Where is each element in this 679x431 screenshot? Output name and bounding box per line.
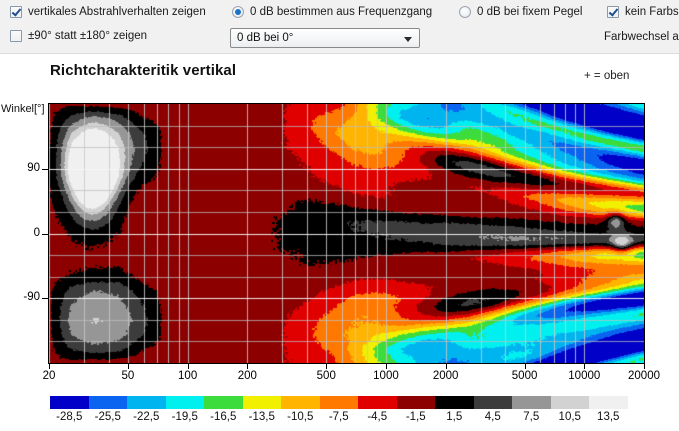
checkbox-no-color-jump-box[interactable]: [607, 6, 619, 18]
reference-select[interactable]: 0 dB bei 0°: [230, 28, 420, 48]
radio-zero-db-fixed-level-label: 0 dB bei fixem Pegel: [477, 6, 582, 18]
y-tick-label: 90: [0, 162, 40, 174]
colorbar-tick-label: -10,5: [287, 411, 313, 423]
y-tick-label: 0: [0, 227, 40, 239]
colorbar-swatch: [435, 396, 474, 409]
radio-zero-db-from-response-dot[interactable]: [232, 6, 244, 18]
colorbar-swatch: [50, 396, 89, 409]
colorbar-swatch: [243, 396, 282, 409]
x-tick-label: 100: [178, 370, 197, 382]
colorbar-swatch: [474, 396, 513, 409]
colorbar-swatch: [204, 396, 243, 409]
page-title: Richtcharakteritik vertikal: [50, 62, 236, 79]
colorbar-tick-label: 10,5: [559, 411, 581, 423]
colorbar-swatch: [127, 396, 166, 409]
colorbar-swatch: [512, 396, 551, 409]
x-tick-label: 2000: [433, 370, 459, 382]
x-tick-mark: [584, 364, 585, 369]
checkbox-pm90-box[interactable]: [10, 30, 22, 42]
y-tick-mark: [42, 298, 49, 299]
y-tick-mark: [42, 234, 49, 235]
colorbar-tick-label: 7,5: [523, 411, 539, 423]
colorbar-swatch: [320, 396, 359, 409]
colorbar-tick-label: -25,5: [95, 411, 121, 423]
colorbar-swatch: [89, 396, 128, 409]
colorbar-tick-label: -13,5: [249, 411, 275, 423]
x-tick-mark: [128, 364, 129, 369]
colorbar-tick-label: -22,5: [133, 411, 159, 423]
colorbar-tick-label: -1,5: [406, 411, 426, 423]
directivity-heatmap: [49, 104, 644, 363]
x-tick-mark: [326, 364, 327, 369]
checkbox-no-color-jump-label: kein Farbspr: [625, 6, 679, 18]
checkbox-pm90[interactable]: ±90° statt ±180° zeigen: [10, 30, 147, 42]
x-tick-label: 10000: [568, 370, 600, 382]
y-tick-mark: [42, 169, 49, 170]
reference-select-value: 0 dB bei 0°: [237, 32, 293, 44]
y-axis-label: Winkel[°]: [1, 103, 45, 115]
colorbar-swatch: [551, 396, 590, 409]
x-tick-mark: [386, 364, 387, 369]
x-tick-label: 20: [43, 370, 56, 382]
colorbar-tick-label: -28,5: [56, 411, 82, 423]
checkbox-show-vertical-box[interactable]: [10, 6, 22, 18]
colorbar-tick-label: -16,5: [210, 411, 236, 423]
colorbar-tick-label: 13,5: [597, 411, 619, 423]
x-tick-mark: [525, 364, 526, 369]
colorbar-tick-label: -19,5: [172, 411, 198, 423]
chart-annotation: + = oben: [584, 70, 629, 82]
x-tick-label: 200: [238, 370, 257, 382]
x-tick-mark: [644, 364, 645, 369]
colorbar-swatch: [281, 396, 320, 409]
x-tick-mark: [188, 364, 189, 369]
colorbar-tick-label: -4,5: [367, 411, 387, 423]
radio-zero-db-fixed-level[interactable]: 0 dB bei fixem Pegel: [459, 6, 582, 18]
colorbar-tick-label: 4,5: [485, 411, 501, 423]
colorbar-swatch: [166, 396, 205, 409]
chevron-down-icon[interactable]: [404, 37, 412, 42]
x-tick-mark: [247, 364, 248, 369]
x-tick-label: 5000: [512, 370, 538, 382]
checkbox-no-color-jump[interactable]: kein Farbspr: [607, 6, 679, 18]
radio-zero-db-fixed-level-dot[interactable]: [459, 6, 471, 18]
x-tick-label: 1000: [373, 370, 399, 382]
x-tick-mark: [49, 364, 50, 369]
colorbar-tick-label: -7,5: [329, 411, 349, 423]
colorbar-tick-label: 1,5: [446, 411, 462, 423]
color-change-label: Farbwechsel a: [604, 31, 679, 43]
checkbox-pm90-label: ±90° statt ±180° zeigen: [28, 30, 147, 42]
colorbar-swatch: [589, 396, 628, 409]
checkbox-show-vertical-label: vertikales Abstrahlverhalten zeigen: [28, 6, 206, 18]
x-tick-label: 50: [122, 370, 135, 382]
x-tick-label: 20000: [628, 370, 660, 382]
colorbar-swatch: [397, 396, 436, 409]
checkbox-show-vertical[interactable]: vertikales Abstrahlverhalten zeigen: [10, 6, 206, 18]
x-tick-mark: [446, 364, 447, 369]
radio-zero-db-from-response[interactable]: 0 dB bestimmen aus Frequenzgang: [232, 6, 432, 18]
colorbar-legend: [50, 396, 628, 409]
radio-zero-db-from-response-label: 0 dB bestimmen aus Frequenzgang: [250, 6, 432, 18]
y-tick-label: -90: [0, 291, 40, 303]
x-tick-label: 500: [317, 370, 336, 382]
options-toolbar: vertikales Abstrahlverhalten zeigen ±90°…: [0, 0, 679, 54]
colorbar-swatch: [358, 396, 397, 409]
